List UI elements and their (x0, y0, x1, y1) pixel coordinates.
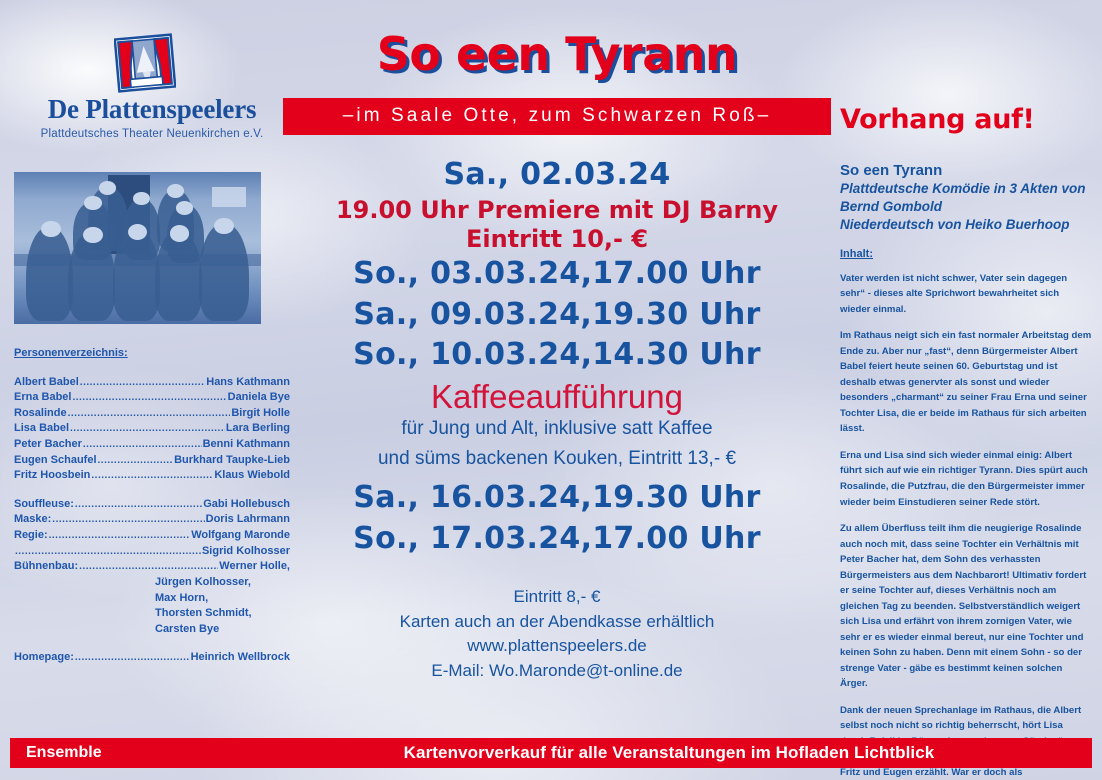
cast-roles: Albert Babel............................… (14, 375, 290, 484)
ensemble-label: Ensemble (10, 744, 306, 762)
play-title: So een Tyrann (840, 161, 1092, 180)
cast-role-name: Fritz Hoosbein (14, 468, 90, 484)
theatre-name: De Plattenspeelers (14, 96, 290, 123)
schedule-entry: Sa., 02.03.24 (283, 155, 831, 196)
play-meta-line1: Plattdeutsche Komödie in 3 Akten von (840, 180, 1092, 198)
vorhang-auf-headline: Vorhang auf! (840, 104, 1092, 135)
left-column: De Plattenspeelers Plattdeutsches Theate… (14, 30, 290, 666)
homepage-row: Homepage:...............................… (14, 650, 290, 666)
schedule-entry: So., 17.03.24,17.00 Uhr (283, 519, 831, 560)
cast-dot-leader: ........................................… (98, 454, 174, 468)
cast-actor-name: Gabi Hollebusch (203, 497, 290, 513)
cast-crew-continued: Jürgen Kolhosser,Max Horn,Thorsten Schmi… (14, 575, 290, 637)
cast-actor-name: Heinrich Wellbrock (191, 650, 290, 666)
synopsis-paragraph: Zu allem Überfluss teilt ihm die neugier… (840, 521, 1092, 692)
footer-info-line: Eintritt 8,- € (283, 585, 831, 610)
cast-role-name: Homepage: (14, 650, 74, 666)
cast-actor-name: Klaus Wiebold (214, 468, 290, 484)
venue-banner: –im Saale Otte, zum Schwarzen Roß– (283, 98, 831, 135)
cast-role-name: Rosalinde (14, 406, 67, 422)
center-column: So een Tyrann –im Saale Otte, zum Schwar… (283, 26, 831, 684)
ticket-presale-label: Kartenvorverkauf für alle Veranstaltunge… (306, 743, 1092, 763)
schedule-entry: So., 10.03.24,14.30 Uhr (283, 335, 831, 376)
schedule-list: Sa., 02.03.2419.00 Uhr Premiere mit DJ B… (283, 155, 831, 559)
play-meta-line2: Bernd Gombold (840, 198, 1092, 216)
footer-info: Eintritt 8,- €Karten auch an der Abendka… (283, 585, 831, 684)
cast-dot-leader: ........................................… (75, 498, 202, 512)
crew-continued-name: Max Horn, (14, 591, 290, 607)
footer-info-line: www.plattenspeelers.de (283, 634, 831, 659)
schedule-entry: Sa., 16.03.24,19.30 Uhr (283, 478, 831, 519)
schedule-entry: 19.00 Uhr Premiere mit DJ Barny (283, 196, 831, 225)
crew-row: Bühnenbau:..............................… (14, 559, 290, 575)
cast-dot-leader: ........................................… (79, 560, 218, 574)
cast-actor-name: Birgit Holle (231, 406, 290, 422)
theatre-subtitle: Plattdeutsches Theater Neuenkirchen e.V. (14, 128, 290, 140)
cast-list: Personenverzeichnis: Albert Babel.......… (14, 346, 290, 666)
cast-row: Albert Babel............................… (14, 375, 290, 391)
cast-actor-name: Sigrid Kolhosser (202, 544, 290, 560)
cast-row: Rosalinde...............................… (14, 406, 290, 422)
footer-info-line: E-Mail: Wo.Maronde@t-online.de (283, 659, 831, 684)
schedule-entry: und süms backenen Kouken, Eintritt 13,- … (283, 447, 831, 472)
schedule-entry: So., 03.03.24,17.00 Uhr (283, 254, 831, 295)
crew-row: Regie:..................................… (14, 528, 290, 544)
crew-row: Souffleuse:.............................… (14, 497, 290, 513)
cast-role-name: Erna Babel (14, 390, 71, 406)
cast-dot-leader: ........................................… (49, 529, 191, 543)
crew-row: ........................................… (14, 544, 290, 560)
page-title: So een Tyrann (283, 30, 831, 78)
cast-role-name: Lisa Babel (14, 421, 69, 437)
schedule-entry: für Jung und Alt, inklusive satt Kaffee (283, 417, 831, 442)
crew-continued-name: Thorsten Schmidt, (14, 606, 290, 622)
cast-role-name: Maske: (14, 512, 51, 528)
theatre-curtain-icon (114, 32, 176, 94)
cast-actor-name: Doris Lahrmann (206, 512, 290, 528)
cast-role-name: Albert Babel (14, 375, 79, 391)
theatre-logo: De Plattenspeelers Plattdeutsches Theate… (14, 32, 290, 160)
cast-actor-name: Hans Kathmann (206, 375, 290, 391)
cast-actor-name: Werner Holle, (219, 559, 290, 575)
cast-dot-leader: ........................................… (70, 422, 225, 436)
cast-dot-leader: ........................................… (75, 651, 190, 665)
cast-actor-name: Burkhard Taupke-Lieb (174, 453, 290, 469)
cast-role-name: Regie: (14, 528, 48, 544)
schedule-entry: Eintritt 10,- € (283, 225, 831, 254)
ensemble-photo (14, 172, 261, 324)
cast-row: Erna Babel..............................… (14, 390, 290, 406)
cast-row: Eugen Schaufel..........................… (14, 453, 290, 469)
cast-dot-leader: ........................................… (52, 513, 204, 527)
footer-info-line: Karten auch an der Abendkasse erhältlich (283, 610, 831, 635)
synopsis-paragraph: Vater werden ist nicht schwer, Vater sei… (840, 271, 1092, 318)
synopsis-paragraph: Erna und Lisa sind sich wieder einmal ei… (840, 448, 1092, 510)
synopsis-label: Inhalt: (840, 248, 1092, 260)
cast-dot-leader: ........................................… (15, 545, 201, 559)
cast-role-name: Bühnenbau: (14, 559, 78, 575)
bottom-banner: Ensemble Kartenvorverkauf für alle Veran… (10, 738, 1092, 768)
cast-dot-leader: ........................................… (72, 391, 226, 405)
cast-dot-leader: ........................................… (91, 469, 213, 483)
schedule-entry: Kaffeeaufführung (283, 378, 831, 417)
cast-actor-name: Daniela Bye (228, 390, 290, 406)
synopsis-body: Vater werden ist nicht schwer, Vater sei… (840, 271, 1092, 780)
poster: De Plattenspeelers Plattdeutsches Theate… (0, 0, 1102, 780)
synopsis-paragraph: Im Rathaus neigt sich ein fast normaler … (840, 328, 1092, 437)
cast-role-name: Peter Bacher (14, 437, 82, 453)
cast-dot-leader: ........................................… (68, 407, 231, 421)
cast-actor-name: Lara Berling (226, 421, 290, 437)
schedule-entry: Sa., 09.03.24,19.30 Uhr (283, 295, 831, 336)
play-meta-line3: Niederdeutsch von Heiko Buerhoop (840, 216, 1092, 234)
crew-continued-name: Jürgen Kolhosser, (14, 575, 290, 591)
cast-crew: Souffleuse:.............................… (14, 497, 290, 575)
cast-homepage: Homepage:...............................… (14, 650, 290, 666)
cast-row: Peter Bacher............................… (14, 437, 290, 453)
cast-row: Fritz Hoosbein..........................… (14, 468, 290, 484)
cast-heading: Personenverzeichnis: (14, 346, 290, 362)
right-column: Vorhang auf! So een Tyrann Plattdeutsche… (840, 104, 1092, 780)
cast-role-name: Eugen Schaufel (14, 453, 97, 469)
cast-dot-leader: ........................................… (83, 438, 202, 452)
cast-actor-name: Wolfgang Maronde (191, 528, 290, 544)
crew-continued-name: Carsten Bye (14, 622, 290, 638)
cast-dot-leader: ........................................… (80, 376, 205, 390)
crew-row: Maske:..................................… (14, 512, 290, 528)
cast-role-name: Souffleuse: (14, 497, 74, 513)
cast-actor-name: Benni Kathmann (203, 437, 290, 453)
cast-row: Lisa Babel..............................… (14, 421, 290, 437)
